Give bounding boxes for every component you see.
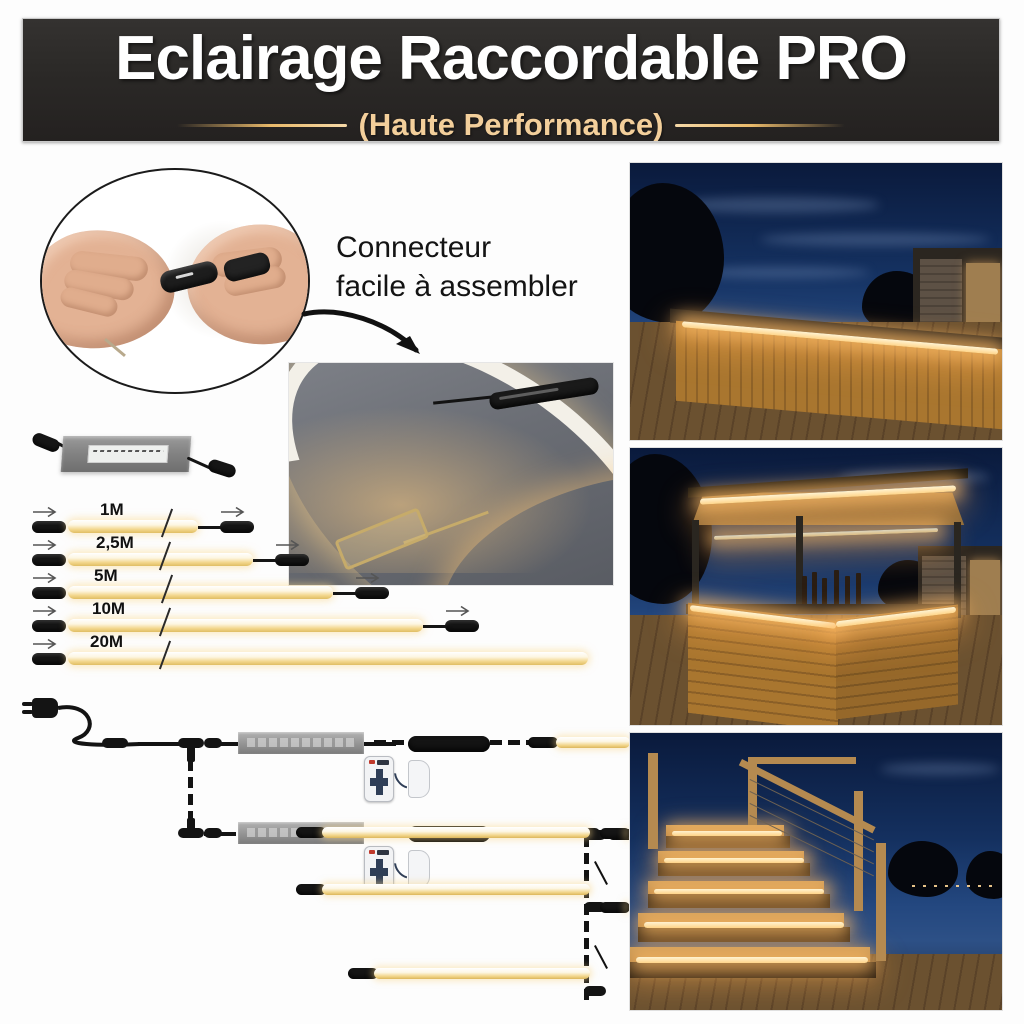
mains-plug-icon bbox=[32, 698, 58, 718]
cloud bbox=[760, 233, 990, 246]
infographic-page: Eclairage Raccordable PRO (Haute Perform… bbox=[0, 0, 1024, 1024]
led-strip bbox=[68, 520, 198, 533]
led-strip-step bbox=[654, 889, 824, 894]
remote-buttons bbox=[370, 769, 388, 795]
branch-led-strip bbox=[322, 827, 590, 838]
branch-led-strip bbox=[322, 884, 590, 895]
led-strip bbox=[68, 619, 423, 632]
inline-connector bbox=[204, 738, 222, 748]
flow-arrow-icon bbox=[445, 605, 473, 617]
stair-riser bbox=[630, 962, 876, 978]
dashed-drop-wire bbox=[188, 760, 193, 822]
branch-tap bbox=[584, 986, 606, 996]
led-strip-step bbox=[672, 831, 782, 836]
dimmer-module bbox=[408, 736, 490, 752]
flow-arrow-icon bbox=[32, 638, 60, 650]
page-subtitle: (Haute Performance) bbox=[359, 107, 664, 142]
flow-arrow-icon bbox=[355, 572, 383, 584]
strip-connector bbox=[528, 737, 558, 748]
stair-riser bbox=[666, 836, 790, 848]
length-label: 2,5M bbox=[96, 533, 134, 553]
strip-cap-left bbox=[32, 554, 66, 566]
annotation-line-1: Connecteur bbox=[336, 228, 636, 267]
flow-arrow-icon bbox=[32, 605, 60, 617]
led-strip-step bbox=[636, 957, 868, 963]
cut-mark bbox=[594, 861, 608, 885]
bottle bbox=[856, 573, 861, 606]
led-strip-step bbox=[664, 858, 804, 863]
driver-plug-left bbox=[31, 431, 62, 454]
bottle bbox=[812, 572, 817, 606]
strip-connector bbox=[600, 902, 630, 913]
page-title: Eclairage Raccordable PRO bbox=[23, 23, 999, 94]
strip-cap-left bbox=[32, 587, 66, 599]
strip-cap-right bbox=[275, 554, 309, 566]
strip-cap-right bbox=[220, 521, 254, 533]
flow-arrow-icon bbox=[220, 506, 248, 518]
power-supply bbox=[238, 732, 364, 754]
railing-post-left bbox=[648, 753, 658, 849]
led-strip bbox=[556, 737, 630, 748]
railing-top bbox=[748, 757, 856, 764]
bottle bbox=[845, 576, 850, 606]
flow-arrow-icon bbox=[32, 539, 60, 551]
bottle bbox=[834, 570, 839, 606]
length-label: 10M bbox=[92, 599, 125, 619]
led-strip bbox=[68, 652, 588, 665]
hands-connector-photo bbox=[40, 168, 310, 394]
photo-bar-pergola bbox=[629, 447, 1003, 726]
header-banner: Eclairage Raccordable PRO (Haute Perform… bbox=[22, 18, 1000, 142]
cut-mark bbox=[594, 945, 608, 969]
driver-label bbox=[87, 445, 168, 463]
distant-town-lights bbox=[912, 885, 996, 887]
dashed-wire bbox=[374, 740, 408, 745]
led-strip-step bbox=[644, 922, 844, 928]
remote-led-icon bbox=[369, 850, 375, 854]
flow-arrow-icon bbox=[275, 539, 303, 551]
length-label: 1M bbox=[100, 500, 124, 520]
photo-deck-stairs bbox=[629, 732, 1003, 1011]
length-label: 20M bbox=[90, 632, 123, 652]
flow-arrow-icon bbox=[32, 506, 60, 518]
driver-plug-right bbox=[207, 458, 238, 479]
stair-riser bbox=[638, 927, 850, 942]
inline-connector bbox=[204, 828, 222, 838]
stair-riser bbox=[658, 863, 810, 876]
remote-control bbox=[364, 756, 394, 802]
bottle bbox=[822, 578, 827, 606]
wiring-diagram bbox=[18, 690, 628, 1010]
strip-cap-right bbox=[445, 620, 479, 632]
strip-connector bbox=[600, 828, 630, 839]
led-driver bbox=[61, 436, 192, 472]
strip-cap-right bbox=[355, 587, 389, 599]
tree-silhouette bbox=[888, 841, 958, 897]
gold-divider-left bbox=[177, 124, 347, 127]
mains-cable bbox=[56, 702, 142, 752]
subtitle-row: (Haute Performance) bbox=[23, 107, 999, 142]
t-splitter-connector bbox=[102, 738, 128, 748]
length-label: 5M bbox=[94, 566, 118, 586]
stair-riser bbox=[648, 894, 830, 908]
remote-led-icon bbox=[369, 760, 375, 764]
railing-post bbox=[876, 843, 886, 961]
strip-cap-left bbox=[32, 653, 66, 665]
cloud bbox=[880, 763, 1000, 775]
bottle bbox=[802, 576, 807, 606]
remote-buttons bbox=[370, 859, 388, 885]
gold-divider-right bbox=[675, 124, 845, 127]
length-options-list: 1M 2,5M 5M bbox=[24, 512, 624, 672]
strip-cap-left bbox=[32, 521, 66, 533]
t-splitter bbox=[178, 828, 204, 838]
strip-cap-left bbox=[32, 620, 66, 632]
remote-screen bbox=[377, 850, 389, 855]
trunk-wire bbox=[138, 742, 182, 746]
annotation-text: Connecteur facile à assembler bbox=[336, 228, 636, 306]
branch-led-strip bbox=[374, 968, 590, 979]
flow-arrow-icon bbox=[32, 572, 60, 584]
remote-screen bbox=[377, 760, 389, 765]
railing-post bbox=[854, 791, 863, 911]
photo-bar-counter bbox=[629, 162, 1003, 441]
led-strip bbox=[68, 586, 333, 599]
